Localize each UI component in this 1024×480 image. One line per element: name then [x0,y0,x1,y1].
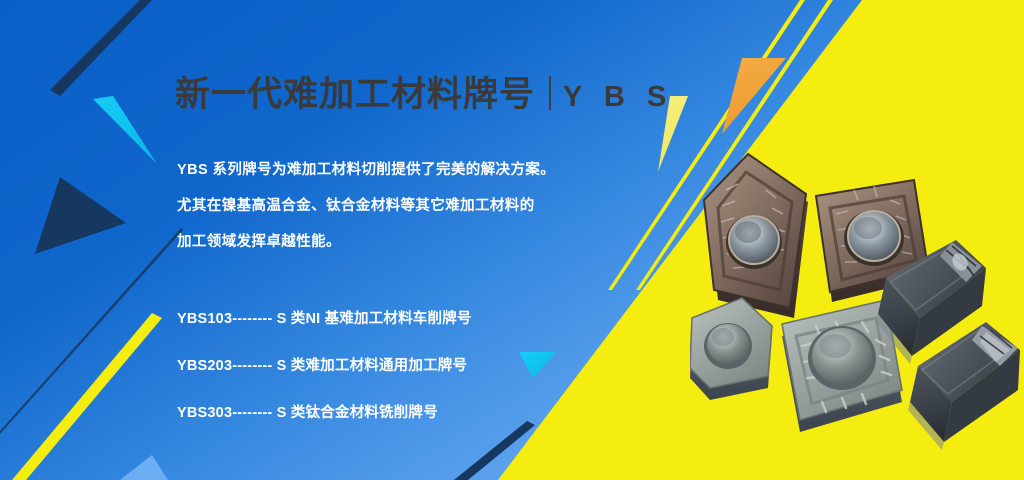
round-milling-insert [690,298,772,400]
description-line: 加工领域发挥卓越性能。 [177,235,597,251]
grade-item: YBS303-------- S 类钛合金材料铣削牌号 [177,401,607,422]
description-paragraph: YBS 系列牌号为难加工材料切削提供了完美的解决方案。 尤其在镍基高温合金、钛合… [177,163,597,271]
description-line: YBS 系列牌号为难加工材料切削提供了完美的解决方案。 [177,163,597,179]
description-line: 尤其在镍基高温合金、钛合金材料等其它难加工材料的 [177,199,597,215]
headline-chinese: 新一代难加工材料牌号 [175,77,535,112]
grade-item: YBS103-------- S 类NI 基难加工材料车削牌号 [177,307,607,328]
grade-list: YBS103-------- S 类NI 基难加工材料车削牌号 YBS203--… [177,307,607,448]
headline-divider [549,76,551,110]
promo-banner: 新一代难加工材料牌号 Y B S YBS 系列牌号为难加工材料切削提供了完美的解… [0,0,1024,480]
headline-english: Y B S [563,83,673,112]
headline: 新一代难加工材料牌号 Y B S [175,72,673,112]
grade-item: YBS203-------- S 类难加工材料通用加工牌号 [177,354,607,375]
triangular-turning-insert [704,154,808,318]
banner-content: 新一代难加工材料牌号 Y B S YBS 系列牌号为难加工材料切削提供了完美的解… [175,0,695,480]
product-insert-group [690,150,1024,450]
